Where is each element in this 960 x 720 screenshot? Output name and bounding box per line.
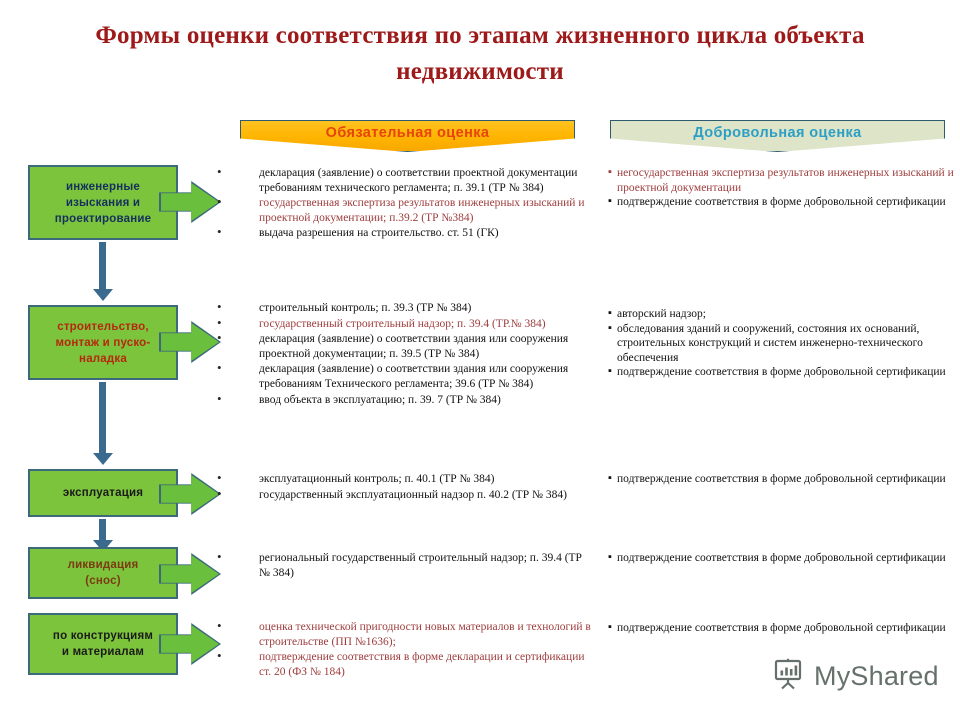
list-item: ввод объекта в эксплуатацию; п. 39. 7 (Т… [215,393,595,408]
column-header-mandatory: Обязательная оценка [240,120,575,152]
stage-label-line: по конструкциям [53,628,153,644]
list-item: подтверждение соответствия в форме добро… [608,621,956,636]
stage-label-line: проектирование [55,211,151,227]
page-title: Формы оценки соответствия по этапам жизн… [60,18,900,90]
list-item: оценка технической пригодности новых мат… [215,620,595,649]
list-item: негосударственная экспертиза результатов… [608,166,956,195]
connector-arrow-1-2 [99,242,106,290]
voluntary-list-row-5: подтверждение соответствия в форме добро… [608,621,956,636]
stage-box-liquidation: ликвидация (снос) [28,547,178,599]
stage-box-engineering-survey: инженерные изыскания и проектирование [28,165,178,240]
column-header-voluntary-label: Добровольная оценка [693,125,861,141]
mandatory-list-row-4: региональный государственный строительны… [215,551,595,581]
stage-label-line: строительство, [57,319,149,335]
list-item: подтверждение соответствия в форме добро… [608,195,956,210]
stage-box-construction: строительство, монтаж и пуско- наладка [28,305,178,380]
connector-arrow-3-4 [99,519,106,541]
stage-label-line: инженерные [66,179,140,195]
stage-box-structures-materials: по конструкциям и материалам [28,613,178,675]
stage-label-line: ликвидация [68,557,139,573]
stage-label-line: изыскания и [66,195,140,211]
list-item: государственная экспертиза результатов и… [215,196,595,225]
stage-box-operation: эксплуатация [28,469,178,517]
stage-label-line: и материалам [62,644,144,660]
list-item: подтверждение соответствия в форме добро… [608,472,956,487]
voluntary-list-row-4: подтверждение соответствия в форме добро… [608,551,956,566]
watermark-label: MyShared [814,661,939,692]
connector-arrow-2-3 [99,382,106,454]
list-item: авторский надзор; [608,307,956,322]
list-item: декларация (заявление) о соответствии пр… [215,166,595,195]
list-item: обследования зданий и сооружений, состоя… [608,322,956,366]
mandatory-list-row-1: декларация (заявление) о соответствии пр… [215,166,595,242]
stage-label-line: эксплуатация [63,485,143,501]
stage-label-line: монтаж и пуско- [56,335,151,351]
column-header-mandatory-label: Обязательная оценка [326,125,490,141]
voluntary-list-row-3: подтверждение соответствия в форме добро… [608,472,956,487]
list-item: выдача разрешения на строительство. ст. … [215,226,595,241]
list-item: подтверждение соответствия в форме добро… [608,551,956,566]
stage-label-line: (снос) [85,573,120,589]
stage-label-line: наладка [79,351,127,367]
mandatory-list-row-5: оценка технической пригодности новых мат… [215,620,595,680]
voluntary-list-row-2: авторский надзор; обследования зданий и … [608,307,956,380]
mandatory-list-row-2: строительный контроль; п. 39.3 (ТР № 384… [215,301,595,408]
watermark: MyShared [772,658,939,695]
list-item: подтверждение соответствия в форме декла… [215,650,595,679]
list-item: декларация (заявление) о соответствии зд… [215,362,595,391]
presentation-chart-icon [772,658,806,695]
list-item: эксплуатационный контроль; п. 40.1 (ТР №… [215,472,595,487]
list-item: государственный строительный надзор; п. … [215,317,595,332]
column-header-voluntary: Добровольная оценка [610,120,945,152]
list-item: региональный государственный строительны… [215,551,595,580]
voluntary-list-row-1: негосударственная экспертиза результатов… [608,166,956,210]
list-item: государственный эксплуатационный надзор … [215,488,595,503]
list-item: декларация (заявление) о соответствии зд… [215,332,595,361]
list-item: подтверждение соответствия в форме добро… [608,365,956,380]
list-item: строительный контроль; п. 39.3 (ТР № 384… [215,301,595,316]
mandatory-list-row-3: эксплуатационный контроль; п. 40.1 (ТР №… [215,472,595,503]
